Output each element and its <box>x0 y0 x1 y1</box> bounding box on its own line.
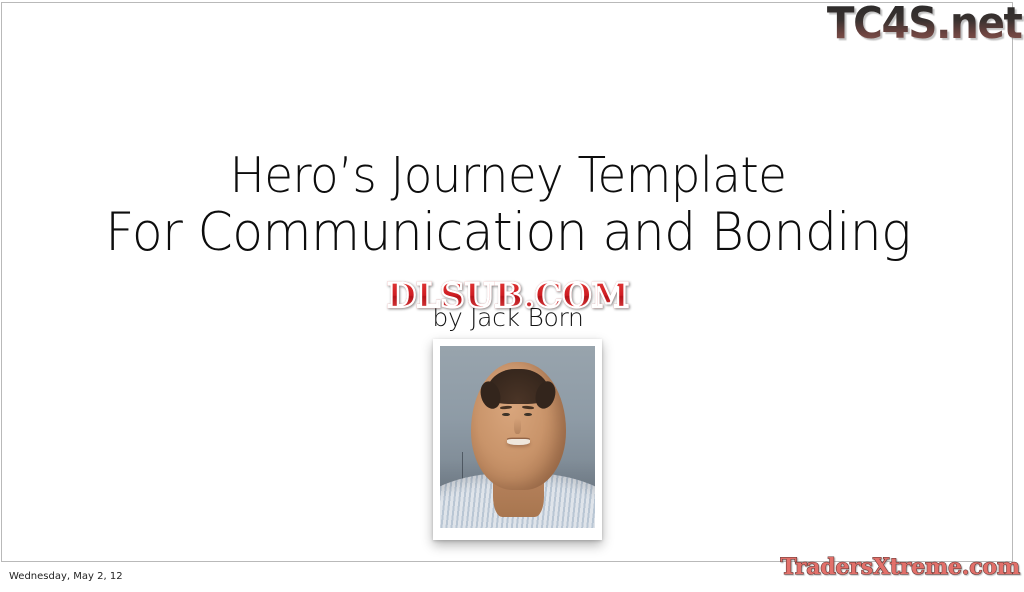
presentation-slide: Hero’s Journey Template For Communicatio… <box>0 0 1024 592</box>
photo-eyebrow-right <box>522 405 535 409</box>
slide-canvas: Hero’s Journey Template For Communicatio… <box>1 2 1013 562</box>
photo-hair <box>486 369 550 405</box>
photo-smile <box>507 439 530 445</box>
photo-eye-left <box>502 413 510 417</box>
portrait-photo-frame <box>433 339 602 540</box>
slide-title: Hero’s Journey Template For Communicatio… <box>2 151 1013 260</box>
slide-subtitle-author: by Jack Born <box>2 303 1013 332</box>
photo-eyebrow-left <box>500 405 513 409</box>
footer-date: Wednesday, May 2, 12 <box>9 571 123 582</box>
photo-eye-right <box>524 413 532 417</box>
portrait-image <box>440 346 595 528</box>
watermark-tc4s: TC4S.net <box>827 2 1022 46</box>
title-line-1: Hero’s Journey Template <box>25 151 991 202</box>
photo-face <box>471 362 566 489</box>
watermark-tradersxtreme: TradersXtreme.com <box>780 556 1020 578</box>
title-line-2: For Communication and Bonding <box>27 205 988 260</box>
photo-nose <box>514 418 521 433</box>
